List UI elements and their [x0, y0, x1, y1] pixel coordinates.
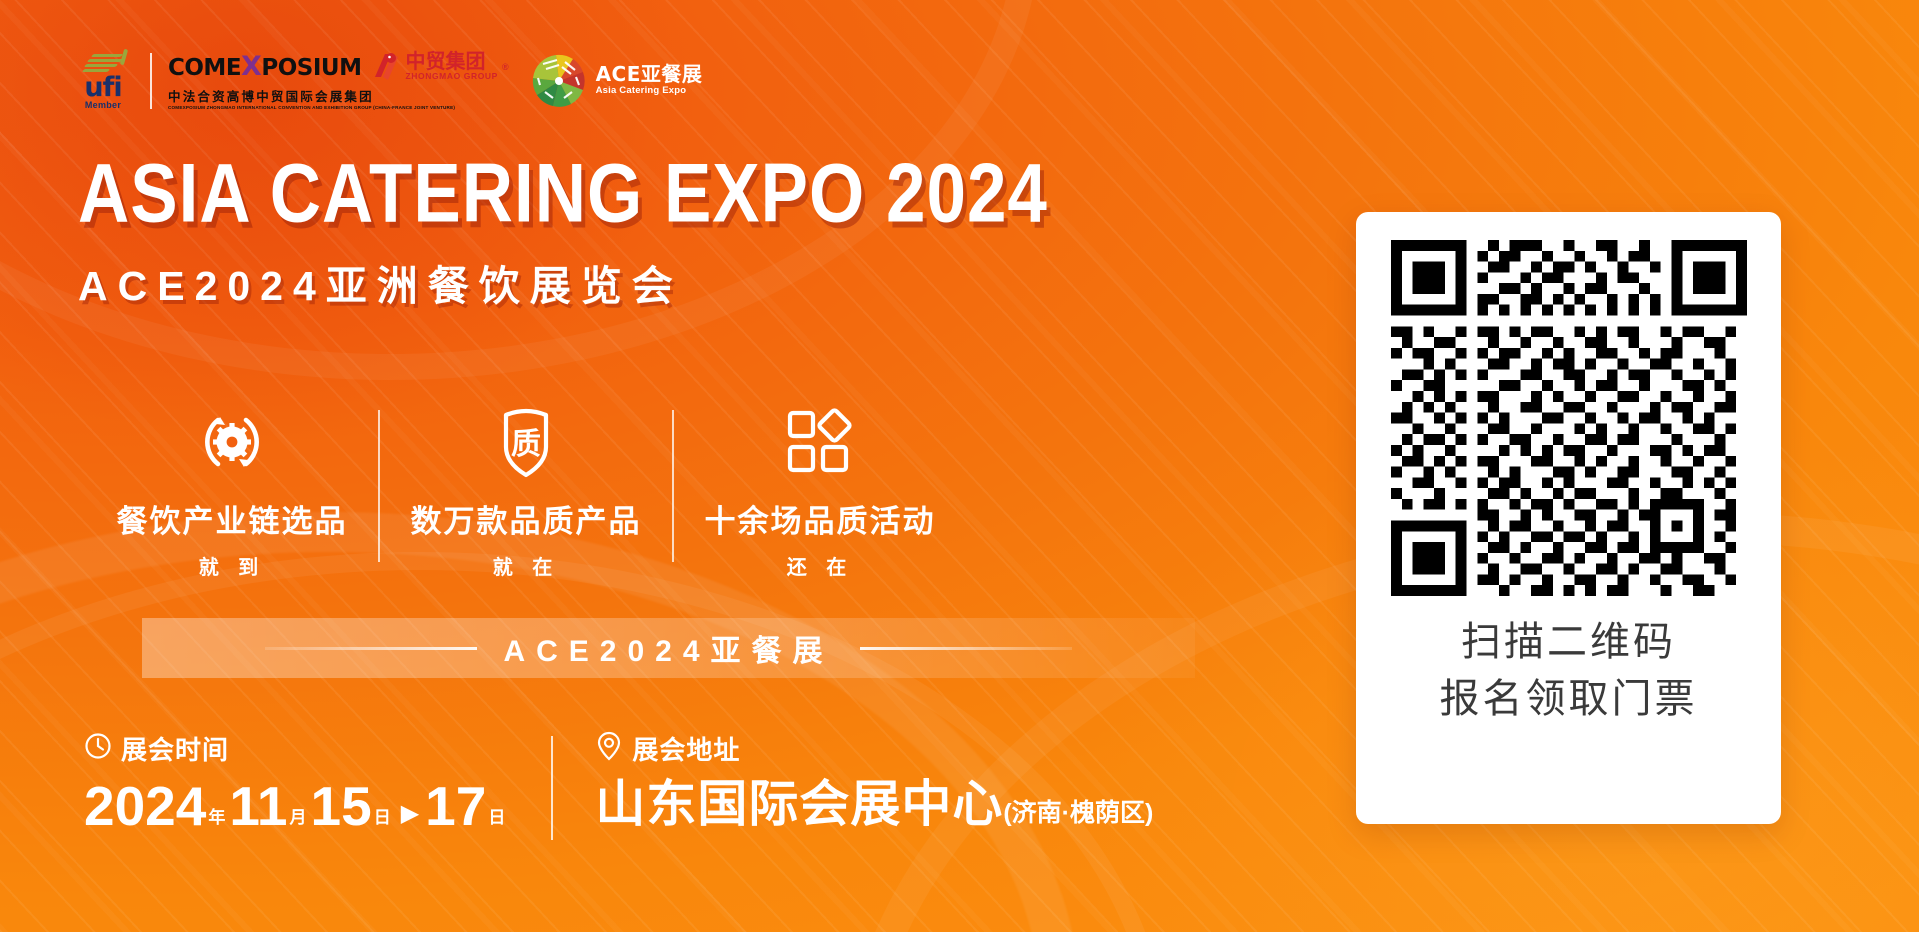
comex-part-left: COME — [168, 55, 241, 81]
headline-chinese: ACE2024亚洲餐饮展览会 — [78, 252, 1048, 312]
date-block: 展会时间 2024 年 11 月 15 日 ▶ 17 日 — [84, 730, 509, 834]
feature-title-3: 十余场品质活动 — [705, 496, 936, 541]
zhongmao-mark-icon — [371, 51, 401, 83]
ufi-logo: ufi Member — [72, 52, 134, 110]
logo-divider-1 — [150, 53, 152, 109]
svg-text:质: 质 — [511, 427, 541, 462]
ufi-member-label: Member — [85, 101, 121, 110]
date-day-end: 17 — [425, 779, 486, 834]
date-year-unit: 年 — [208, 803, 225, 828]
zhongmao-cn-name: 中贸集团 — [405, 51, 497, 71]
clock-icon — [84, 732, 112, 765]
ace-subtitle: Asia Catering Expo — [596, 85, 703, 97]
venue-value: 山东国际会展中心 (济南·槐荫区) — [595, 779, 1153, 829]
gear-cycle-icon — [194, 404, 270, 480]
headline-english: ASIA CATERING EXPO 2024 — [78, 152, 1048, 237]
date-month: 11 — [229, 779, 287, 834]
feature-sub-1: 就 到 — [199, 551, 266, 580]
diamond-squares-icon — [782, 404, 858, 480]
date-day-start-unit: 日 — [374, 803, 391, 828]
date-year: 2024 — [84, 779, 206, 834]
qr-caption-line-2: 报名领取门票 — [1440, 671, 1698, 728]
zhongmao-logo: 中贸集团 ZHONGMAO GROUP ® — [371, 51, 508, 83]
ribbon-text: ACE2024亚餐展 — [503, 626, 833, 670]
qr-caption: 扫描二维码 报名领取门票 — [1440, 614, 1698, 728]
ufi-wing-icon — [80, 52, 126, 74]
date-day-start: 15 — [311, 779, 372, 834]
comexposium-wordmark: COMEXPOSIUM — [168, 51, 361, 82]
venue-block: 展会地址 山东国际会展中心 (济南·槐荫区) — [595, 730, 1153, 829]
info-divider — [551, 736, 553, 840]
comex-part-right: POSIUM — [261, 55, 361, 81]
venue-name: 山东国际会展中心 — [595, 779, 1003, 829]
quality-shield-icon: 质 — [490, 404, 562, 480]
date-month-unit: 月 — [290, 803, 307, 828]
qr-caption-line-1: 扫描二维码 — [1440, 614, 1698, 671]
date-day-end-unit: 日 — [488, 803, 505, 828]
headline-block: ASIA CATERING EXPO 2024 ACE2024亚洲餐饮展览会 — [78, 152, 1048, 312]
info-bar: 展会时间 2024 年 11 月 15 日 ▶ 17 日 — [84, 730, 1153, 840]
registered-mark: ® — [502, 62, 509, 72]
feature-item-2: 质 数万款品质产品 就 在 — [380, 404, 672, 580]
ace-pinwheel-icon — [529, 51, 589, 111]
comexposium-en-line: COMEXPOSIUM ZHONGMAO INTERNATIONAL CONVE… — [168, 105, 509, 111]
feature-title-1: 餐饮产业链选品 — [117, 496, 348, 541]
feature-sub-3: 还 在 — [787, 551, 854, 580]
comex-x-letter: X — [241, 51, 261, 82]
feature-list: 餐饮产业链选品 就 到 质 数万款品质产品 就 在 — [86, 404, 966, 580]
ufi-wordmark: ufi — [84, 75, 121, 101]
feature-sub-2: 就 在 — [493, 551, 560, 580]
venue-label: 展会地址 — [632, 730, 740, 767]
ribbon-strip: ACE2024亚餐展 — [142, 618, 1195, 678]
qr-code-icon[interactable] — [1391, 240, 1747, 596]
ace-logo: ACE亚餐展 Asia Catering Expo — [529, 51, 703, 111]
date-value: 2024 年 11 月 15 日 ▶ 17 日 — [84, 779, 509, 834]
promo-banner: ufi Member COMEXPOSIUM — [0, 0, 1919, 932]
feature-title-2: 数万款品质产品 — [411, 496, 642, 541]
feature-item-3: 十余场品质活动 还 在 — [674, 404, 966, 580]
logo-bar: ufi Member COMEXPOSIUM — [72, 44, 702, 118]
ribbon-line-right — [860, 647, 1072, 650]
qr-card[interactable]: 扫描二维码 报名领取门票 — [1356, 212, 1781, 824]
ribbon-line-left — [265, 647, 477, 650]
comexposium-logo: COMEXPOSIUM 中贸集团 ZHONGMAO GROUP — [168, 51, 509, 111]
date-range-arrow: ▶ — [401, 799, 419, 828]
location-pin-icon — [595, 731, 623, 766]
venue-district: (济南·槐荫区) — [1003, 793, 1153, 829]
ace-title: ACE亚餐展 — [596, 64, 703, 85]
feature-item-1: 餐饮产业链选品 就 到 — [86, 404, 378, 580]
zhongmao-en-name: ZHONGMAO GROUP — [405, 71, 497, 83]
comexposium-cn-line: 中法合资高博中贸国际会展集团 — [168, 86, 509, 105]
date-label: 展会时间 — [121, 730, 229, 767]
